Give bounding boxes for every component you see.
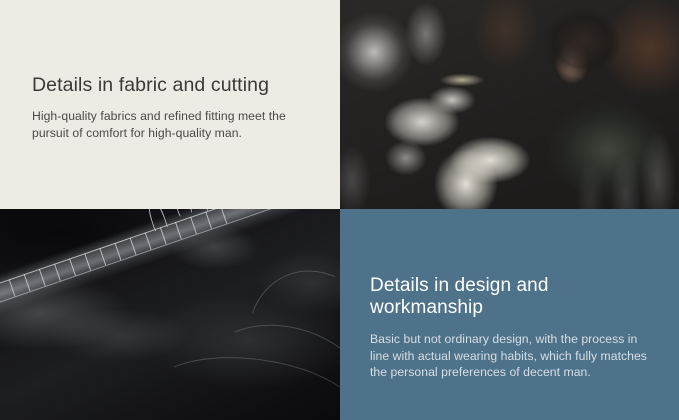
fabric-cutting-body: High-quality fabrics and refined fitting…: [32, 108, 304, 141]
fabric-cutting-heading: Details in fabric and cutting: [32, 74, 306, 97]
sewing-workshop-image: [340, 0, 679, 209]
design-workmanship-panel: Details in design and workmanship Basic …: [340, 209, 679, 420]
design-workmanship-text-block: Details in design and workmanship Basic …: [370, 275, 659, 381]
seam-stitch-macro-image: [0, 209, 340, 420]
fabric-cutting-panel: Details in fabric and cutting High-quali…: [0, 0, 340, 209]
feature-grid: Details in fabric and cutting High-quali…: [0, 0, 679, 420]
workshop-photo-cell: [340, 0, 679, 209]
fabric-cutting-text-block: Details in fabric and cutting High-quali…: [32, 74, 306, 141]
stitch-photo-cell: [0, 209, 340, 420]
design-workmanship-heading: Details in design and workmanship: [370, 275, 659, 321]
design-workmanship-body: Basic but not ordinary design, with the …: [370, 331, 658, 380]
